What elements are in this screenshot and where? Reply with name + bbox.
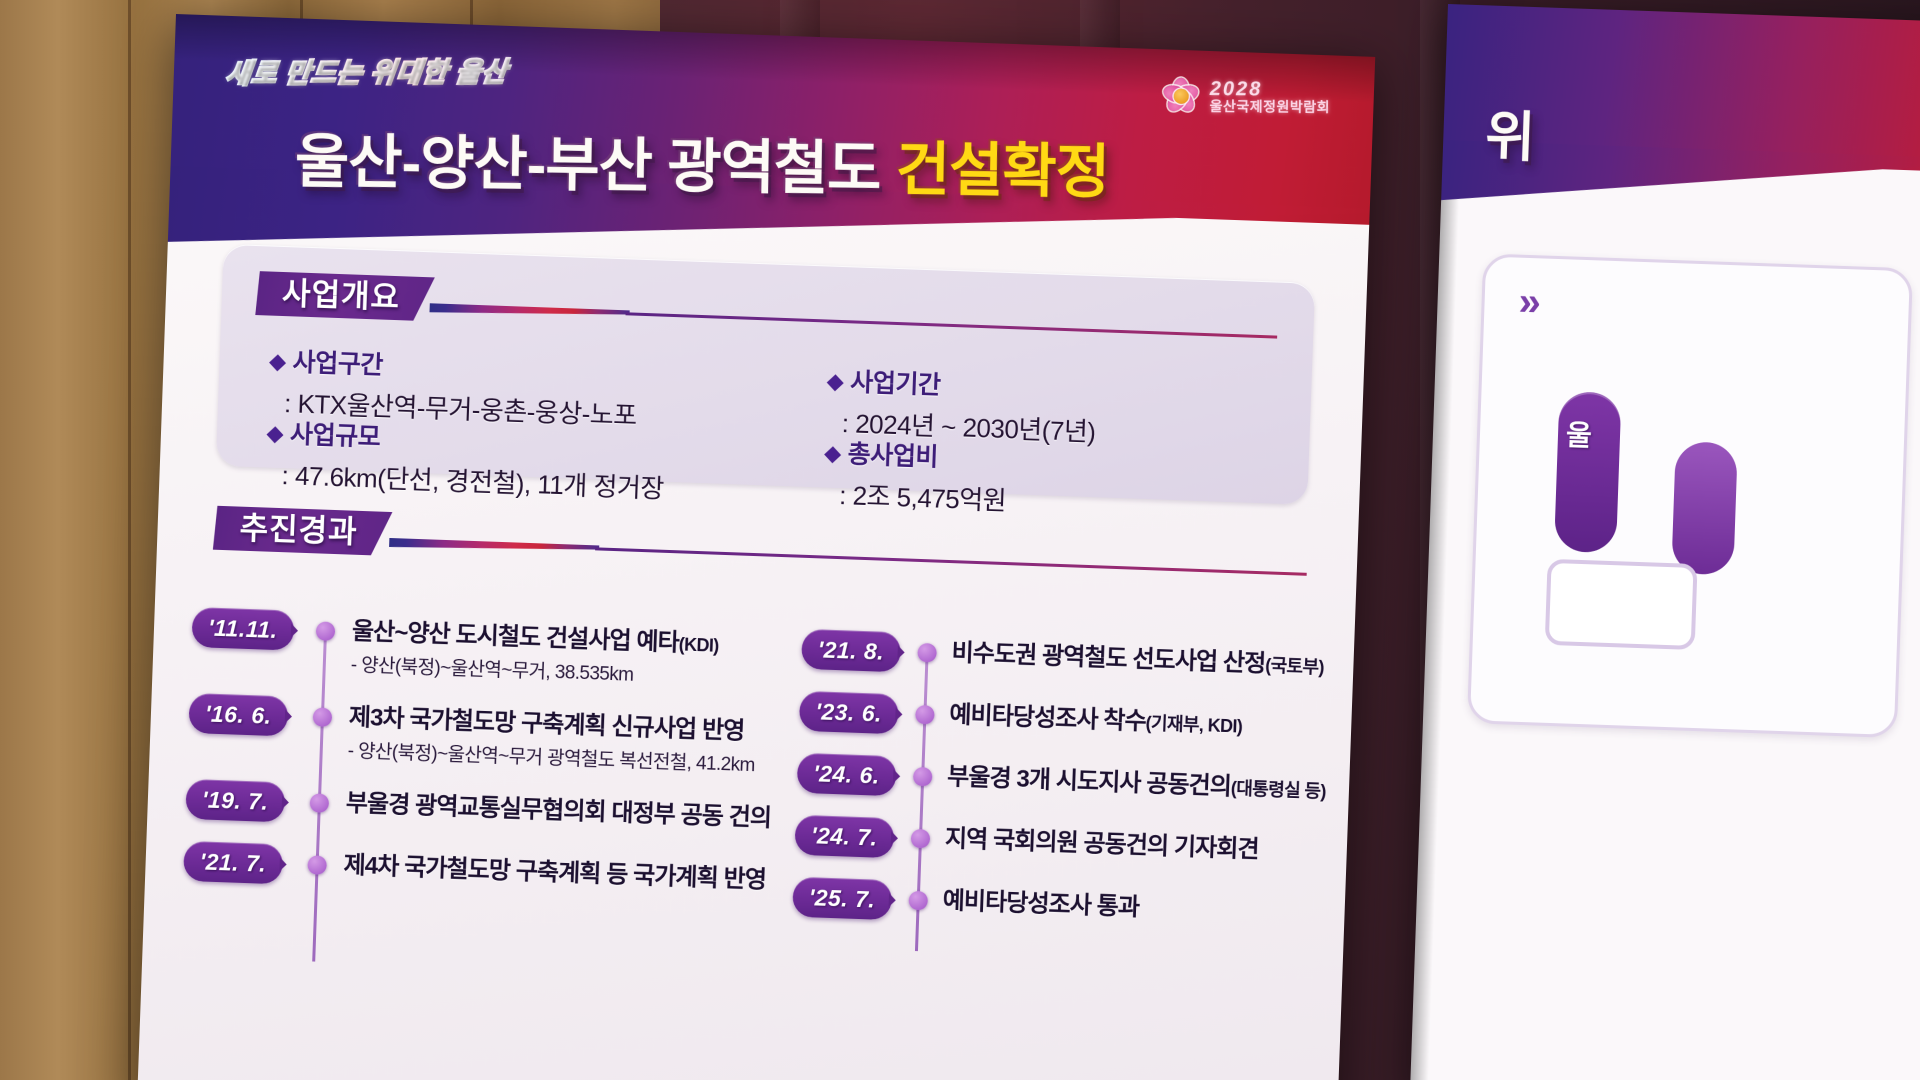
timeline-dot-icon (915, 705, 935, 725)
expo-logo: 2028 울산국제정원박람회 (1160, 76, 1330, 117)
overview-badge-label: 사업개요 (281, 276, 400, 315)
timeline-dot-icon (913, 767, 933, 787)
timeline-title-note: (기재부, KDI) (1145, 713, 1242, 736)
timeline-dot-icon (911, 829, 931, 849)
timeline-date-badge: '21. 8. (801, 629, 901, 672)
timeline-title-note: (국토부) (1265, 655, 1324, 677)
diamond-bullet-icon (824, 446, 841, 463)
overview-value-3: : 2조 5,475억원 (839, 475, 1007, 518)
timeline-date-badge: '24. 6. (797, 753, 897, 796)
diagram-pill-secondary (1671, 441, 1738, 575)
overview-key-0: 사업구간 (271, 342, 639, 391)
page-title: 울산-양산-부산 광역철도 건설확정 (295, 114, 1110, 210)
overview-badge: 사업개요 (255, 271, 435, 321)
overview-divider (626, 312, 1278, 338)
timeline-title: 부울경 3개 시도지사 공동건의(대통령실 등) (947, 756, 1327, 805)
overview-key-1: 사업기간 (829, 362, 1098, 408)
timeline-date-badge: '21. 7. (183, 841, 283, 884)
timeline-dot-icon (917, 643, 937, 663)
page-title-main: 울산-양산-부산 광역철도 (295, 129, 897, 203)
secondary-diagram-card: » 울 (1467, 253, 1913, 738)
poster-surface: 새로 만드는 위대한 울산 2028 울산국제정원박람회 울산-양산-부산 광역… (137, 14, 1375, 1080)
city-slogan: 새로 만드는 위대한 울산 (224, 50, 510, 91)
progress-timeline: '11.11. 울산~양산 도시철도 건설사업 예타(KDI) - 양산(북정)… (193, 601, 1322, 641)
diamond-bullet-icon (827, 374, 844, 391)
timeline-title: 지역 국회의원 공동건의 기자회견 (944, 818, 1259, 864)
wall-seam (128, 0, 131, 1080)
overview-item-2: 사업규모 : 47.6km(단선, 경전철), 11개 정거장 (267, 414, 666, 506)
chevron-right-icon: » (1518, 280, 1542, 326)
timeline-dot-icon (307, 855, 327, 875)
overview-value-2: : 47.6km(단선, 경전철), 11개 정거장 (281, 455, 665, 506)
main-poster-board: 새로 만드는 위대한 울산 2028 울산국제정원박람회 울산-양산-부산 광역… (137, 14, 1375, 1080)
timeline-title: 예비타당성조사 통과 (942, 880, 1140, 922)
timeline-date-badge: '24. 7. (794, 815, 894, 858)
timeline-dot-icon (313, 707, 333, 727)
timeline-title-note: (대통령실 등) (1231, 778, 1327, 801)
diamond-bullet-icon (269, 354, 286, 371)
secondary-poster-surface: 위 » 울 (1410, 4, 1920, 1080)
timeline-title: 예비타당성조사 착수(기재부, KDI) (949, 694, 1243, 739)
timeline-dot-icon (908, 891, 928, 911)
flower-icon (1160, 76, 1200, 116)
overview-key-3: 총사업비 (826, 434, 1008, 476)
timeline-date-badge: '25. 7. (792, 877, 892, 920)
expo-name: 울산국제정원박람회 (1209, 99, 1330, 114)
progress-section: 추진경과 '11.11. 울산~양산 도시철도 건설사업 예타(KDI) - 양… (196, 505, 1325, 545)
timeline-title-note: (KDI) (678, 634, 719, 655)
timeline-dot-icon (310, 793, 330, 813)
timeline-date-badge: '11.11. (191, 607, 294, 651)
secondary-poster-board: 위 » 울 (1410, 4, 1920, 1080)
diagram-outline-box (1545, 559, 1698, 650)
diagram-label: 울 (1565, 413, 1592, 454)
progress-badge-label: 추진경과 (239, 511, 358, 550)
timeline-date-badge: '19. 7. (185, 779, 285, 822)
timeline-dot-icon (316, 621, 336, 641)
expo-year: 2028 (1209, 79, 1330, 100)
overview-panel: 사업개요 사업구간 : KTX울산역-무거-웅촌-웅상-노포 사업기간 : 20… (216, 244, 1315, 505)
progress-badge: 추진경과 (213, 506, 393, 556)
timeline-date-badge: '23. 6. (799, 691, 899, 734)
overview-badge-rule (429, 303, 629, 319)
progress-divider (595, 547, 1307, 575)
overview-item-3: 총사업비 : 2조 5,475억원 (825, 434, 1009, 518)
diamond-bullet-icon (267, 426, 284, 443)
timeline-date-badge: '16. 6. (188, 693, 288, 736)
secondary-page-title: 위 (1484, 91, 1535, 172)
progress-timeline-left: '11.11. 울산~양산 도시철도 건설사업 예타(KDI) - 양산(북정)… (182, 601, 802, 919)
progress-timeline-right: '21. 8. 비수도권 광역철도 선도사업 산정(국토부) '23. 6. 예… (792, 623, 1323, 951)
page-title-highlight: 건설확정 (895, 136, 1109, 205)
timeline-title: 비수도권 광역철도 선도사업 산정(국토부) (951, 632, 1325, 680)
progress-badge-rule (389, 538, 599, 555)
